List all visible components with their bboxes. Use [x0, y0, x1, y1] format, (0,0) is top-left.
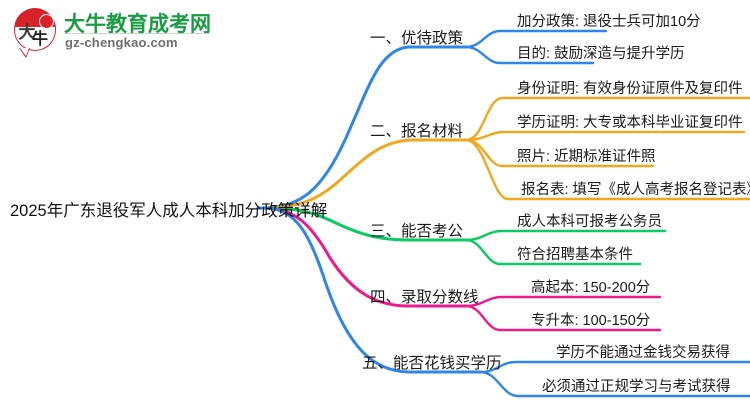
logo-dot-icon — [39, 14, 54, 29]
connector-leaf-5-1 — [480, 362, 750, 372]
branch-label-5[interactable]: 五、能否花钱买学历 — [362, 351, 502, 373]
leaf-label-3-2[interactable]: 符合招聘基本条件 — [517, 243, 633, 264]
leaf-label-5-1[interactable]: 学历不能通过金钱交易获得 — [556, 341, 730, 362]
logo-divider — [64, 33, 210, 34]
leaf-label-4-2[interactable]: 专升本: 100-150分 — [531, 309, 650, 330]
leaf-label-5-2[interactable]: 必须通过正规学习与考试获得 — [542, 375, 731, 396]
branch-label-4[interactable]: 四、录取分数线 — [370, 285, 479, 307]
leaf-label-2-1[interactable]: 身份证明: 有效身份证原件及复印件 — [517, 77, 743, 98]
root-node-label[interactable]: 2025年广东退役军人成人本科加分政策详解 — [10, 197, 327, 221]
leaf-label-1-1[interactable]: 加分政策: 退役士兵可加10分 — [517, 10, 701, 31]
connector-leaf-3-1 — [466, 231, 665, 240]
leaf-label-2-2[interactable]: 学历证明: 大专或本科毕业证复印件 — [517, 111, 743, 132]
branch-label-3[interactable]: 三、能否考公 — [370, 219, 463, 241]
mindmap-canvas: 大 牛 大牛教育成考网 gz-chengkao.com — [0, 0, 750, 410]
branch-label-2[interactable]: 二、报名材料 — [370, 119, 463, 141]
logo-mark-bottom-char: 牛 — [28, 28, 52, 52]
connector-leaf-2-2 — [466, 132, 744, 140]
leaf-label-1-2[interactable]: 目的: 鼓励深造与提升学历 — [517, 42, 685, 63]
leaf-label-2-4[interactable]: 报名表: 填写《成人高考报名登记表》 — [521, 178, 750, 199]
leaf-label-3-1[interactable]: 成人本科可报考公务员 — [517, 210, 662, 231]
site-logo[interactable]: 大 牛 大牛教育成考网 gz-chengkao.com — [12, 6, 202, 58]
leaf-label-4-1[interactable]: 高起本: 150-200分 — [531, 276, 650, 297]
logo-brand-url: gz-chengkao.com — [65, 35, 178, 50]
logo-bubble-icon: 大 牛 — [12, 8, 58, 52]
branch-label-1[interactable]: 一、优待政策 — [370, 26, 463, 48]
leaf-label-2-3[interactable]: 照片: 近期标准证件照 — [517, 145, 656, 166]
connector-leaf-4-1 — [466, 297, 660, 306]
